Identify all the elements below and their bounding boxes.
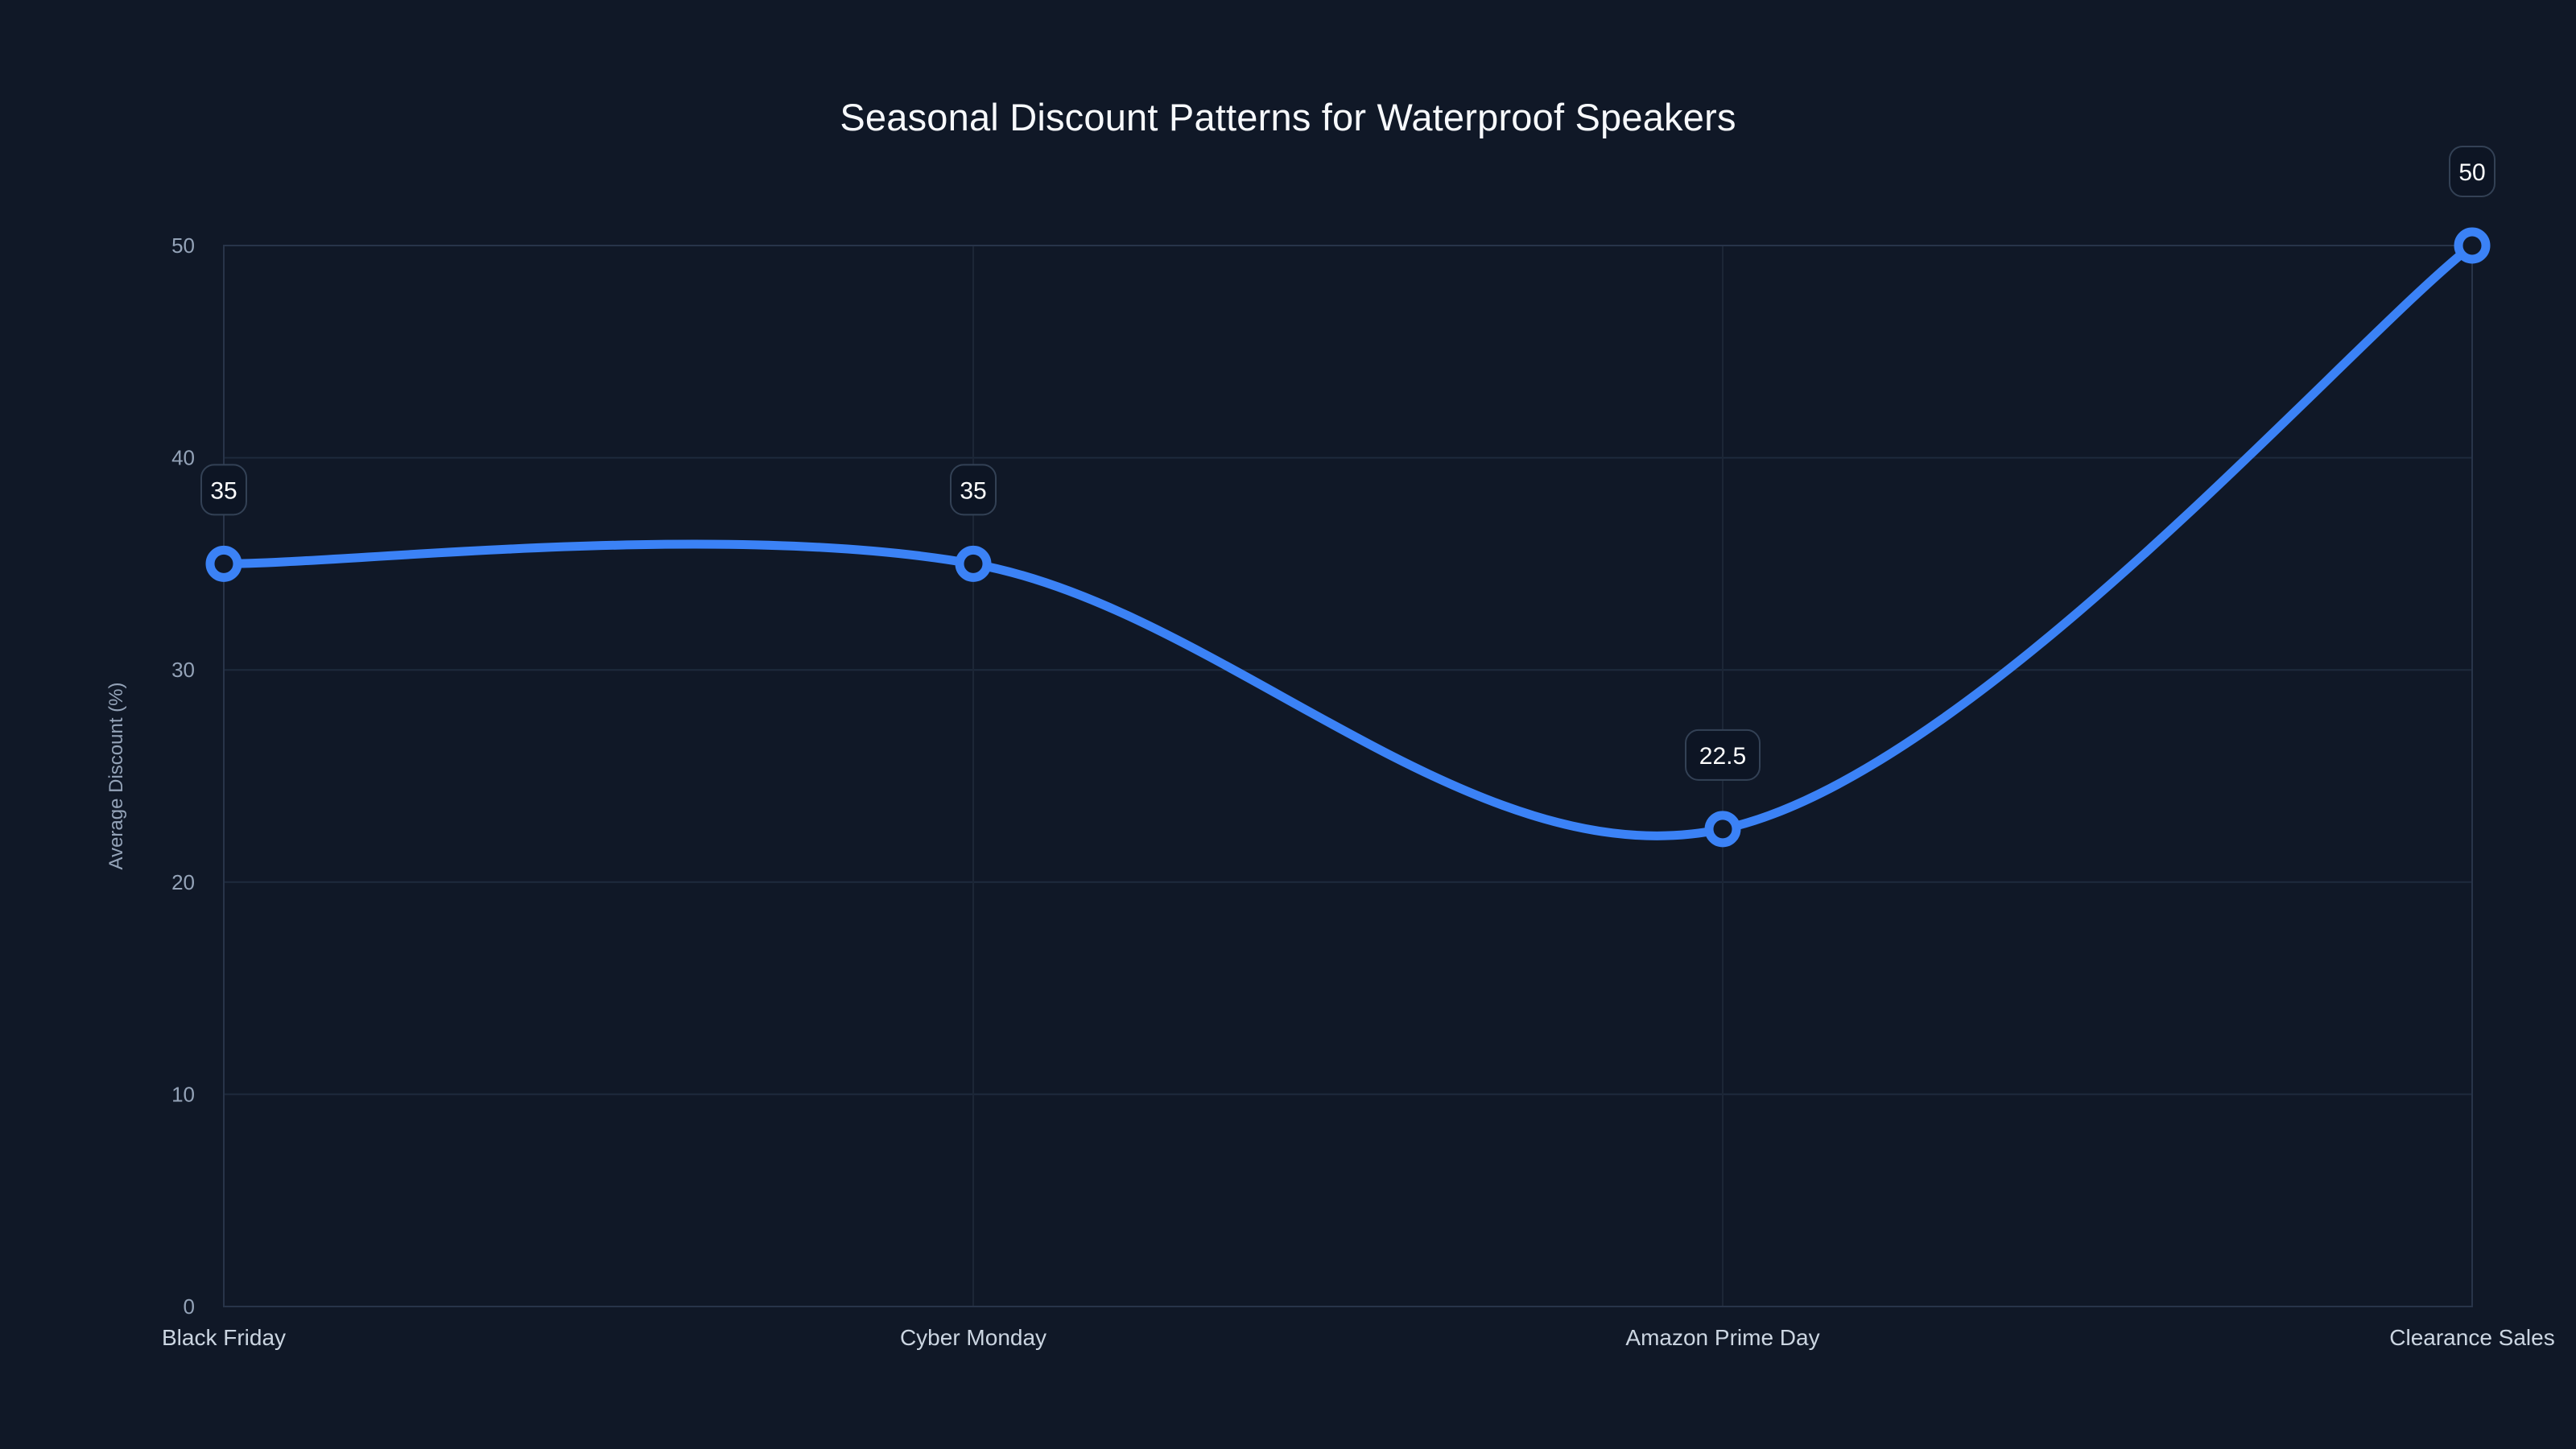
x-tick-label: Clearance Sales xyxy=(2389,1325,2554,1350)
x-axis-category-labels: Black FridayCyber MondayAmazon Prime Day… xyxy=(162,1325,2555,1350)
y-axis-tick-labels: 01020304050 xyxy=(171,233,195,1319)
y-tick-label: 50 xyxy=(171,233,195,258)
data-point-marker-3[interactable] xyxy=(2458,232,2486,259)
y-tick-label: 0 xyxy=(184,1294,195,1319)
x-tick-label: Black Friday xyxy=(162,1325,286,1350)
vertical-gridlines xyxy=(224,246,2472,1307)
horizontal-gridlines xyxy=(224,246,2472,1307)
x-tick-label: Cyber Monday xyxy=(900,1325,1046,1350)
data-series-line[interactable] xyxy=(224,246,2472,836)
data-point-labels: 353522.550 xyxy=(201,147,2495,780)
data-label-text-3: 50 xyxy=(2458,159,2485,186)
data-label-text-0: 35 xyxy=(210,477,237,504)
data-label-text-2: 22.5 xyxy=(1699,743,1746,770)
y-tick-label: 40 xyxy=(171,446,195,470)
x-tick-label: Amazon Prime Day xyxy=(1625,1325,1819,1350)
data-point-markers[interactable] xyxy=(210,232,2486,843)
y-tick-label: 30 xyxy=(171,658,195,682)
data-label-text-1: 35 xyxy=(960,477,986,504)
line-chart-plot[interactable]: 01020304050 Black FridayCyber MondayAmaz… xyxy=(0,0,2576,1449)
data-point-marker-1[interactable] xyxy=(960,550,987,577)
plot-area-border xyxy=(224,246,2472,1307)
chart-canvas: Seasonal Discount Patterns for Waterproo… xyxy=(0,0,2576,1449)
y-axis-title: Average Discount (%) xyxy=(105,683,127,870)
y-tick-label: 10 xyxy=(171,1082,195,1106)
y-tick-label: 20 xyxy=(171,870,195,894)
data-point-marker-2[interactable] xyxy=(1709,815,1736,843)
data-point-marker-0[interactable] xyxy=(210,550,237,577)
